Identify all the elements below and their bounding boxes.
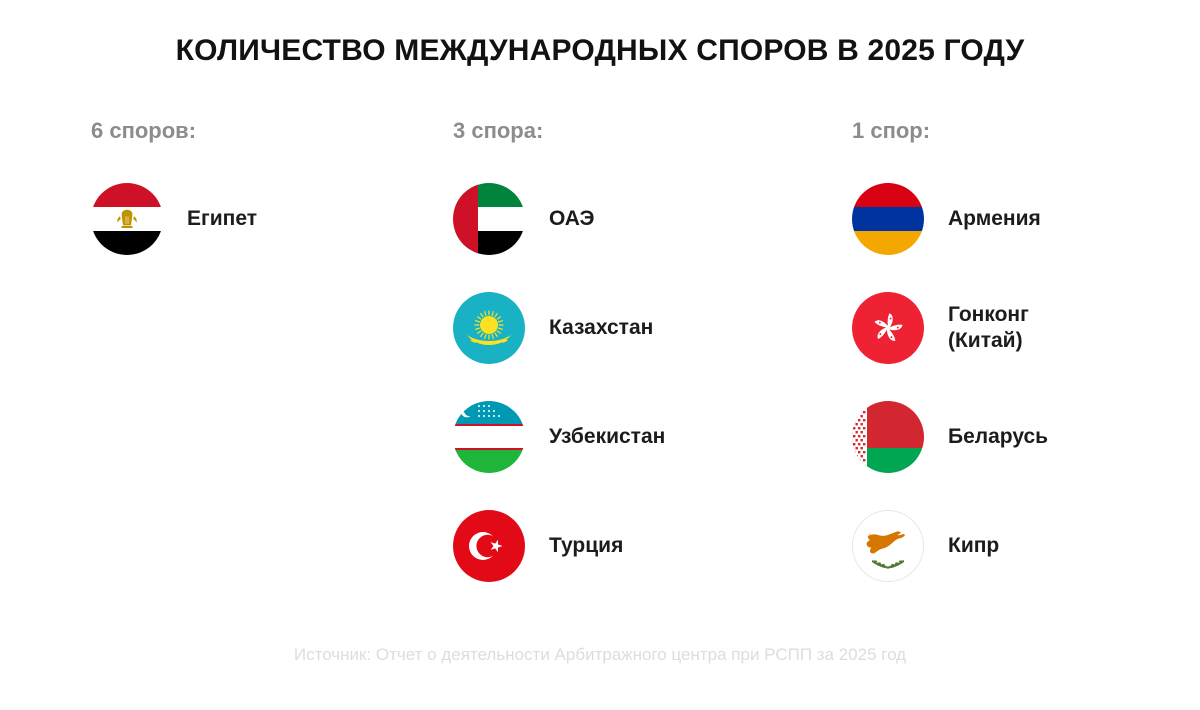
page-title: КОЛИЧЕСТВО МЕЖДУНАРОДНЫХ СПОРОВ В 2025 Г… [0, 34, 1200, 68]
list-item[interactable]: ОАЭ [453, 183, 783, 255]
list-item-label: Египет [187, 206, 257, 232]
column-1-dispute: 1 спор: Армения [852, 118, 1182, 582]
column-header: 6 споров: [91, 118, 421, 144]
list-item[interactable]: Казахстан [453, 292, 783, 364]
list-item-label: Гонконг (Китай) [948, 302, 1029, 353]
list-item-label: ОАЭ [549, 206, 594, 232]
list-item-label: Узбекистан [549, 424, 665, 450]
column-header: 3 спора: [453, 118, 783, 144]
list-item-label: Кипр [948, 533, 999, 559]
egypt-flag-icon [91, 183, 163, 255]
list-item[interactable]: Армения [852, 183, 1182, 255]
source-note: Источник: Отчет о деятельности Арбитражн… [0, 645, 1200, 665]
column-3-disputes: 3 спора: ОАЭ [453, 118, 783, 582]
list-item[interactable]: Египет [91, 183, 421, 255]
infographic-page: КОЛИЧЕСТВО МЕЖДУНАРОДНЫХ СПОРОВ В 2025 Г… [0, 0, 1200, 710]
uzbekistan-flag-icon [453, 401, 525, 473]
armenia-flag-icon [852, 183, 924, 255]
column-header: 1 спор: [852, 118, 1182, 144]
list-item[interactable]: Беларусь [852, 401, 1182, 473]
list-item-label: Казахстан [549, 315, 653, 341]
list-item-label: Беларусь [948, 424, 1048, 450]
cyprus-flag-icon [852, 510, 924, 582]
list-item[interactable]: Кипр [852, 510, 1182, 582]
hongkong-flag-icon [852, 292, 924, 364]
list-item-label: Турция [549, 533, 623, 559]
kazakhstan-flag-icon [453, 292, 525, 364]
list-item[interactable]: Гонконг (Китай) [852, 292, 1182, 364]
column-6-disputes: 6 споров: [91, 118, 421, 255]
list-item[interactable]: Турция [453, 510, 783, 582]
belarus-flag-icon [852, 401, 924, 473]
turkey-flag-icon [453, 510, 525, 582]
list-item[interactable]: Узбекистан [453, 401, 783, 473]
list-item-label: Армения [948, 206, 1041, 232]
uae-flag-icon [453, 183, 525, 255]
